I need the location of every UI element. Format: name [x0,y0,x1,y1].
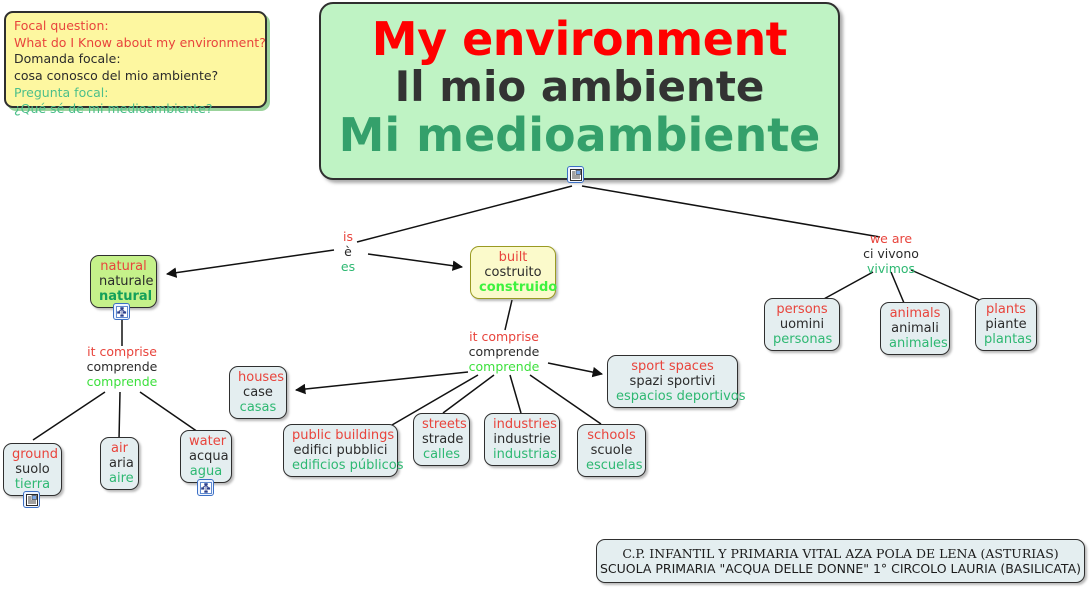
node-industries-en: industries [493,417,551,432]
link-label-we-are-en: we are [840,232,942,247]
link-label-is-en: is [324,230,372,245]
node-persons-en: persons [773,302,831,317]
edge-comprise-to-houses [296,372,468,390]
link-label-comprise-blt-en: it comprise [452,330,556,345]
link-label-it-comprise-natural[interactable]: it comprise comprende comprende [70,345,174,389]
focal-question-line-es-2: ¿Qué sé de mi medioambiente? [14,101,265,118]
node-animals-it: animali [889,321,941,336]
node-houses[interactable]: houses case casas [229,366,287,419]
resource-document-icon[interactable] [23,491,40,508]
credits-box[interactable]: C.P. INFANTIL Y PRIMARIA VITAL AZA POLA … [596,539,1085,583]
edge-built-to-comprise [505,300,512,330]
resource-document-icon[interactable] [567,166,584,183]
link-label-is[interactable]: is è es [324,230,372,274]
node-houses-en: houses [238,370,278,385]
node-streets[interactable]: streets strade calles [413,413,470,466]
node-public-buildings-es: edificios públicos [292,458,389,473]
edge-is-to-natural [167,250,334,274]
node-houses-it: case [238,385,278,400]
node-schools-en: schools [586,428,637,443]
root-node-label-it: Il mio ambiente [395,63,765,110]
edge-is-to-built [368,254,462,267]
focal-question-line-en-1: Focal question: [14,18,265,35]
credits-line-1: C.P. INFANTIL Y PRIMARIA VITAL AZA POLA … [622,546,1058,561]
node-streets-en: streets [422,417,461,432]
node-streets-it: strade [422,432,461,447]
focal-question-line-en-2: What do I Know about my environment? [14,35,265,52]
node-plants-en: plants [984,302,1028,317]
node-ground-en: ground [12,447,53,462]
concept-map-canvas: Focal question: What do I Know about my … [0,0,1091,590]
link-label-we-are-es: vivimos [840,262,942,277]
node-air-es: aire [109,471,130,486]
focal-question-line-es-1: Pregunta focal: [14,85,265,102]
edge-comprise-to-streets [443,375,494,413]
link-label-comprise-nat-en: it comprise [70,345,174,360]
credits-line-2: SCUOLA PRIMARIA "ACQUA DELLE DONNE" 1° C… [600,561,1081,576]
node-animals-es: animales [889,336,941,351]
focal-question-line-it-2: cosa conosco del mio ambiente? [14,68,265,85]
node-plants[interactable]: plants piante plantas [975,298,1037,351]
node-natural-es: natural [99,289,148,304]
node-schools[interactable]: schools scuole escuelas [577,424,646,477]
node-persons[interactable]: persons uomini personas [764,298,840,351]
node-water-es: agua [189,464,223,479]
node-public-buildings-en: public buildings [292,428,389,443]
node-animals[interactable]: animals animali animales [880,302,950,355]
edge-weare-to-animals [891,272,904,303]
node-streets-es: calles [422,447,461,462]
node-persons-es: personas [773,332,831,347]
node-ground-es: tierra [12,477,53,492]
node-sport-spaces-en: sport spaces [616,359,729,374]
node-persons-it: uomini [773,317,831,332]
node-air-en: air [109,441,130,456]
node-industries[interactable]: industries industrie industrias [484,413,560,466]
node-industries-it: industrie [493,432,551,447]
node-built[interactable]: built costruito construido [470,246,556,299]
node-animals-en: animals [889,306,941,321]
root-node-label-es: Mi medioambiente [339,110,821,162]
node-water[interactable]: water acqua agua [180,430,232,483]
node-schools-it: scuole [586,443,637,458]
node-ground[interactable]: ground suolo tierra [3,443,62,496]
node-public-buildings[interactable]: public buildings edifici pubblici edific… [283,424,398,477]
link-label-is-it: è [324,245,372,260]
node-schools-es: escuelas [586,458,637,473]
edge-comprise-to-ground [33,392,105,440]
link-label-is-es: es [324,260,372,275]
node-built-it: costruito [479,265,547,280]
edge-title-to-is [357,186,572,242]
node-plants-es: plantas [984,332,1028,347]
edge-comprise-to-sport-spaces [548,363,602,374]
edge-title-to-weare [582,186,880,237]
concept-map-icon[interactable] [113,303,130,320]
node-water-en: water [189,434,223,449]
focal-question-box[interactable]: Focal question: What do I Know about my … [4,11,267,108]
node-sport-spaces-es: espacios deportivos [616,389,729,404]
edge-comprise-to-water [140,392,198,432]
node-water-it: acqua [189,449,223,464]
node-air-it: aria [109,456,130,471]
link-label-comprise-nat-es: comprende [70,375,174,390]
node-plants-it: piante [984,317,1028,332]
concept-map-icon[interactable] [197,479,214,496]
link-label-it-comprise-built[interactable]: it comprise comprende comprende [452,330,556,374]
node-natural-it: naturale [99,274,148,289]
node-air[interactable]: air aria aire [100,437,139,490]
node-sport-spaces-it: spazi sportivi [616,374,729,389]
link-label-we-are[interactable]: we are ci vivono vivimos [840,232,942,276]
edge-comprise-to-industries [510,375,521,413]
root-node-label-en: My environment [372,15,787,63]
node-sport-spaces[interactable]: sport spaces spazi sportivi espacios dep… [607,355,738,408]
link-label-comprise-blt-es: comprende [452,360,556,375]
focal-question-line-it-1: Domanda focale: [14,51,265,68]
link-label-comprise-blt-it: comprende [452,345,556,360]
link-label-we-are-it: ci vivono [840,247,942,262]
edge-comprise-to-air [119,392,120,440]
node-natural[interactable]: natural naturale natural [90,255,157,308]
node-built-en: built [479,250,547,265]
node-houses-es: casas [238,400,278,415]
node-natural-en: natural [99,259,148,274]
node-ground-it: suolo [12,462,53,477]
link-label-comprise-nat-it: comprende [70,360,174,375]
root-node-my-environment[interactable]: My environment Il mio ambiente Mi medioa… [319,2,840,180]
node-industries-es: industrias [493,447,551,462]
node-public-buildings-it: edifici pubblici [292,443,389,458]
node-built-es: construido [479,280,547,295]
